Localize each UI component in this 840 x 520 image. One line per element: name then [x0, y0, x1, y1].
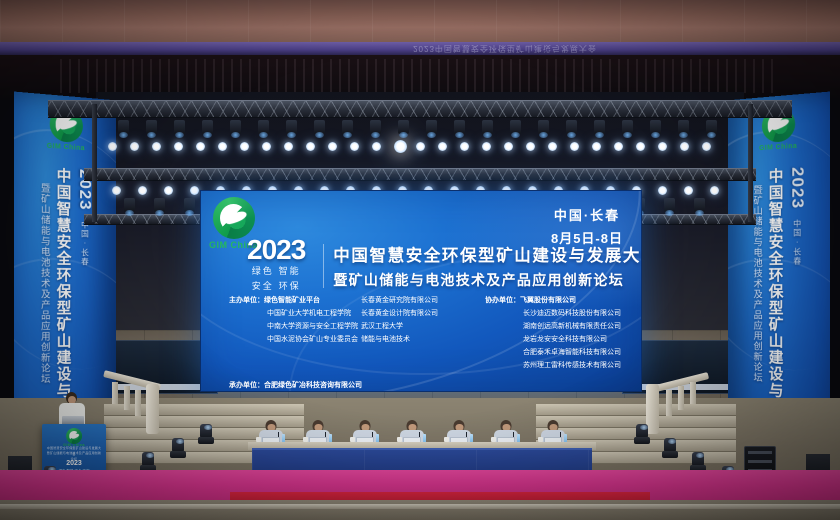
conference-stage-photo: 2023中国智慧安全环保型矿山建设与发展大会 GIM China 暨矿山储能与电… — [0, 0, 840, 520]
banner-right-year: 2023 — [787, 166, 807, 209]
stage-lamp — [164, 186, 173, 195]
screen-slogan-line-2: 安全 环保 — [247, 281, 305, 295]
ceiling-light-beam: 2023中国智慧安全环保型矿山建设与发展大会 — [0, 42, 840, 55]
screen-year-block: 2023 绿色 智能 安全 环保 — [247, 237, 314, 295]
moving-head-fixture — [510, 120, 521, 134]
moving-head-fixture — [154, 198, 165, 212]
screen-title-main: 中国智慧安全环保型矿山建设与发展大会 — [333, 242, 642, 266]
host-col1-item-3: 中国水泥协会矿山专业委员会 — [229, 334, 361, 347]
moving-head-fixture — [202, 120, 213, 134]
stage-lamp — [592, 142, 601, 151]
banner-right-location: 中国·长春 — [792, 209, 803, 266]
host-col1-item-1: 中国矿业大学机电工程学院 — [229, 308, 361, 321]
truss-upright-right — [748, 104, 753, 222]
stage-lamp — [684, 186, 693, 195]
moving-head-fixture — [342, 120, 353, 134]
organizer-column-3: 协办单位：飞翼股份有限公司 长沙迪迈数码科技股份有限公司 湖南创远高新机械有限责… — [473, 295, 621, 373]
stage-lamp — [460, 142, 469, 151]
coorg-item-2: 湖南创远高新机械有限责任公司 — [485, 321, 621, 334]
host-col1-item-2: 中南大学资源与安全工程学院 — [229, 321, 361, 334]
moving-head-light-floor — [690, 452, 706, 472]
truss-upright-left — [92, 104, 97, 222]
banner-left-subtitle: 暨矿山储能与电池技术及产品应用创新论坛 — [37, 166, 51, 384]
coorg-item-1: 长沙迪迈数码科技股份有限公司 — [485, 308, 621, 321]
moving-head-fixture — [314, 120, 325, 134]
gim-logo-icon — [66, 428, 82, 444]
moving-head-fixture — [258, 120, 269, 134]
organizer-column-1: 主办单位：绿色智能矿业平台 中国矿业大学机电工程学院 中南大学资源与安全工程学院… — [229, 295, 361, 373]
moving-head-fixture — [482, 120, 493, 134]
host-col2-item-0: 长春黄金研究院有限公司 — [361, 295, 473, 308]
moving-head-fixture — [594, 120, 605, 134]
stage-lamp — [328, 142, 337, 151]
moving-head-fixture — [398, 120, 409, 134]
moving-head-light-floor — [634, 424, 650, 444]
moving-head-fixture — [286, 120, 297, 134]
stage-lamp — [240, 142, 249, 151]
host-col2-item-2: 武汉工程大学 — [361, 321, 473, 334]
podium-year: 2023 — [66, 460, 82, 467]
stage-lamp — [416, 142, 425, 151]
stage-lamp — [152, 142, 161, 151]
stage-lamp — [548, 142, 557, 151]
host-col2-item-3: 储能与电池技术 — [361, 334, 473, 347]
moving-head-light-floor — [170, 438, 186, 458]
screen-title-block: 2023 绿色 智能 安全 环保 中国智慧安全环保型矿山建设与发展大会 暨矿山储… — [247, 237, 642, 295]
stage-lamp — [372, 142, 381, 151]
moving-head-light-floor — [140, 452, 156, 472]
stage-lamp — [482, 142, 491, 151]
screen-city: 中国·长春 — [551, 205, 623, 224]
moving-head-fixture — [454, 120, 465, 134]
lighting-truss-middle — [84, 168, 756, 181]
stage-lamp — [130, 142, 139, 151]
ceiling-reflected-text: 2023中国智慧安全环保型矿山建设与发展大会 — [355, 43, 655, 54]
moving-head-fixture — [678, 120, 689, 134]
stage-lamp — [394, 140, 407, 153]
stage-lamp — [710, 186, 719, 195]
host-label: 主办单位：绿色智能矿业平台 — [229, 295, 361, 308]
title-divider — [323, 244, 324, 288]
moving-head-fixture — [174, 120, 185, 134]
stage-lamp — [570, 142, 579, 151]
stage-lamp — [702, 142, 711, 151]
gim-logo-icon — [213, 197, 255, 239]
stage-lamp — [526, 142, 535, 151]
stage-lamp — [196, 142, 205, 151]
moving-head-fixture — [650, 120, 661, 134]
stage-lamp — [284, 142, 293, 151]
balustrade-left — [104, 370, 196, 448]
moving-head-fixture — [184, 198, 195, 212]
stage-lamp — [262, 142, 271, 151]
stage-lamp — [680, 142, 689, 151]
moving-head-fixture — [146, 120, 157, 134]
organizer-column-2: 长春黄金研究院有限公司 长春黄金设计院有限公司 武汉工程大学 储能与电池技术 — [361, 295, 473, 373]
screen-organizers: 主办单位：绿色智能矿业平台 中国矿业大学机电工程学院 中南大学资源与安全工程学院… — [229, 295, 629, 392]
moving-head-fixture — [664, 198, 675, 212]
gim-logo-text: GIM China — [759, 143, 797, 152]
stage-lamp — [138, 186, 147, 195]
stage-lamp — [438, 142, 447, 151]
undertaker-line: 承办单位：合肥绿色矿冶科技咨询有限公司 — [229, 380, 629, 392]
coorg-item-5: 苏州理工雷科传感技术有限公司 — [485, 360, 621, 373]
stage-lamp — [112, 186, 121, 195]
screen-year: 2023 — [247, 237, 305, 264]
moving-head-fixture — [230, 120, 241, 134]
coorg-item-3: 龙岩龙安安全科技有限公司 — [485, 334, 621, 347]
lighting-truss-main — [48, 100, 792, 118]
screen-slogan-line-1: 绿色 智能 — [247, 266, 305, 280]
undertaker-name: 合肥绿色矿冶科技咨询有限公司 — [264, 382, 362, 389]
stage-lamp — [504, 142, 513, 151]
moving-head-fixture — [118, 120, 129, 134]
moving-head-fixture — [370, 120, 381, 134]
stage-lamp — [636, 142, 645, 151]
stage-lamp — [658, 142, 667, 151]
moving-head-fixture — [124, 198, 135, 212]
moving-head-fixture — [706, 120, 717, 134]
foreground-floor-edge — [0, 500, 840, 520]
stage-lamp — [350, 142, 359, 151]
stage-lamp — [108, 142, 117, 151]
stage-lamp — [306, 142, 315, 151]
moving-head-fixture — [566, 120, 577, 134]
moving-head-fixture — [694, 198, 705, 212]
main-led-screen: GIM China 中国·长春 8月5日-8日 2023 绿色 智能 安全 环保… — [200, 190, 642, 392]
moving-head-fixture — [538, 120, 549, 134]
host-col1-item-0: 绿色智能矿业平台 — [264, 297, 320, 304]
coorg-item-4: 合肥泰禾卓海智能科技有限公司 — [485, 347, 621, 360]
coorganizer-label: 协办单位：飞翼股份有限公司 — [485, 295, 621, 308]
stage-lamp — [658, 186, 667, 195]
moving-head-light-floor — [662, 438, 678, 458]
gim-logo-text: GIM China — [47, 143, 85, 152]
moving-head-fixture — [426, 120, 437, 134]
host-col2-item-1: 长春黄金设计院有限公司 — [361, 308, 473, 321]
stage-lamp — [174, 142, 183, 151]
stage-lamp — [218, 142, 227, 151]
stage-lamp — [190, 186, 199, 195]
moving-head-fixture — [622, 120, 633, 134]
coorg-item-0: 飞翼股份有限公司 — [520, 297, 576, 304]
screen-title-sub: 暨矿山储能与电池技术及产品应用创新论坛 — [333, 270, 642, 290]
moving-head-light-floor — [198, 424, 214, 444]
stage-lamp — [614, 142, 623, 151]
ceiling — [0, 0, 840, 46]
